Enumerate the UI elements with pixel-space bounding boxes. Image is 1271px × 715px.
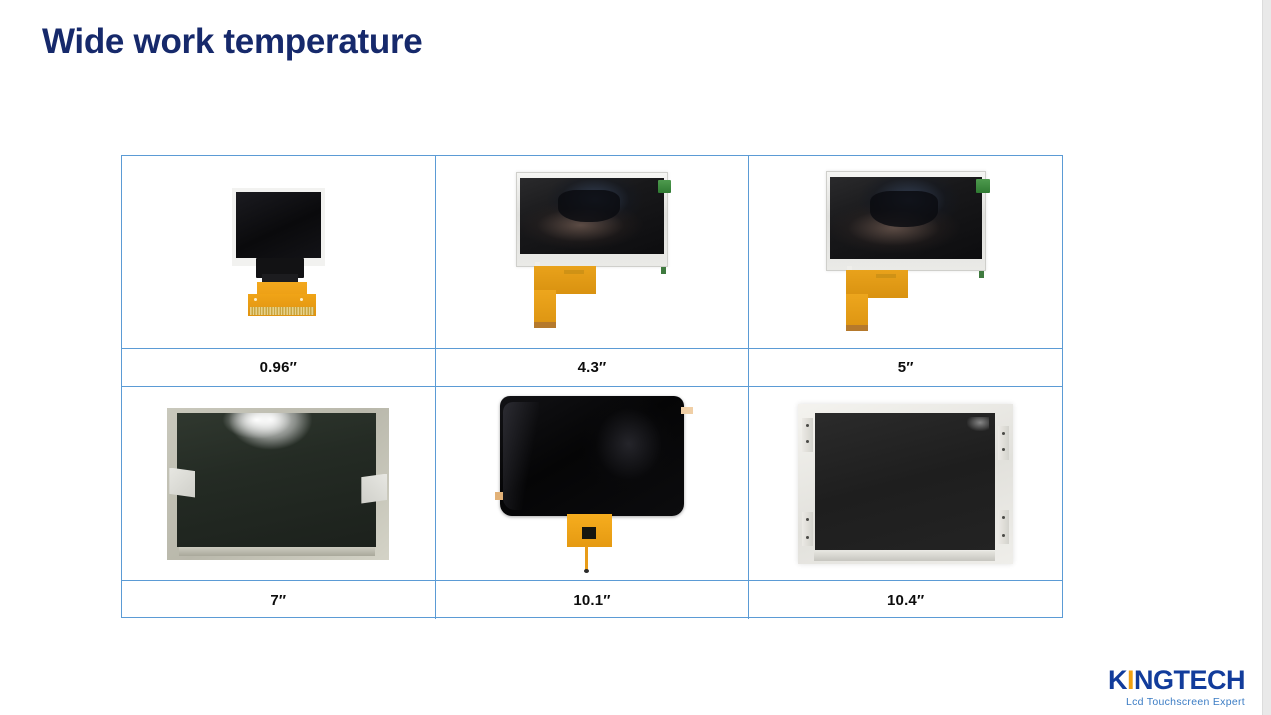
table-row-images-2 (122, 387, 1062, 581)
module-fpc-leg (534, 290, 556, 325)
module-fpc-green-mark (661, 267, 666, 274)
brand-logo-wordmark: KINGTECH (1108, 667, 1245, 694)
panel-screen (177, 413, 376, 547)
tft-lcd-panel-7-inch (167, 408, 389, 560)
panel-edge-reflection (503, 402, 539, 510)
mount-hole (806, 440, 809, 443)
panel-tape-right (361, 474, 387, 504)
product-image-tft-lcd-panel-10-1-inch (436, 387, 749, 580)
screen-glare (221, 413, 293, 448)
tft-lcd-panel-10-4-inch (798, 404, 1013, 564)
product-image-tft-lcd-panel-10-4-inch (749, 387, 1062, 580)
size-label: 4.3″ (436, 349, 749, 386)
table-cell-label-10-1: 10.1″ (436, 581, 750, 619)
mount-hole (1002, 432, 1005, 435)
panel-screen (815, 413, 995, 550)
module-screen (830, 177, 982, 259)
table-cell-label-10-4: 10.4″ (749, 581, 1062, 619)
table-cell-image-10-1[interactable] (436, 387, 750, 580)
module-fpc-pad (564, 270, 584, 274)
tft-lcd-module-5-inch (826, 171, 986, 333)
module-screen (236, 192, 321, 258)
module-fpc-pad (876, 274, 896, 278)
product-image-oled-module-0-96-inch (122, 156, 435, 348)
oled-module-0-96-inch (228, 188, 328, 316)
module-fpc-leg (846, 294, 868, 328)
table-cell-image-5[interactable] (749, 156, 1062, 348)
tft-lcd-module-4-3-inch (516, 172, 668, 332)
table-cell-label-0-96: 0.96″ (122, 349, 436, 386)
table-cell-label-5: 5″ (749, 349, 1062, 386)
page-title: Wide work temperature (42, 22, 422, 62)
panel-bottom-rail (179, 547, 375, 556)
size-label: 5″ (749, 349, 1062, 386)
mount-hole (1002, 516, 1005, 519)
table-cell-label-4-3: 4.3″ (436, 349, 750, 386)
mount-hole (806, 536, 809, 539)
size-label: 10.1″ (436, 581, 749, 619)
mount-hole (1002, 448, 1005, 451)
size-label: 0.96″ (122, 349, 435, 386)
panel-mount-ear-top-left (802, 418, 813, 452)
tft-lcd-panel-10-1-inch (500, 396, 684, 571)
module-fpc-green-mark (979, 271, 984, 278)
brand-logo: KINGTECH Lcd Touchscreen Expert (1108, 667, 1245, 708)
size-label: 7″ (122, 581, 435, 619)
panel-mount-ear-bottom-left (802, 512, 813, 546)
mount-hole (806, 424, 809, 427)
screen-corner-glare (967, 417, 989, 431)
panel-bottom-rail (814, 551, 995, 561)
product-image-tft-lcd-module-5-inch (749, 156, 1062, 348)
panel-nub-right (681, 407, 693, 414)
slide-right-edge-strip (1262, 0, 1271, 715)
table-cell-image-0-96[interactable] (122, 156, 436, 348)
brand-logo-word-after: NGTECH (1134, 665, 1245, 695)
module-green-tab (976, 179, 990, 193)
slide-canvas: Wide work temperature (0, 0, 1271, 715)
table-cell-label-7: 7″ (122, 581, 436, 619)
table-row-images-1 (122, 156, 1062, 349)
screen-reflection-blob (870, 191, 938, 227)
panel-nub-left (495, 492, 503, 500)
screen-reflection-blob (558, 190, 620, 222)
table-cell-image-10-4[interactable] (749, 387, 1062, 580)
module-screen (520, 178, 664, 254)
table-cell-image-7[interactable] (122, 387, 436, 580)
product-image-tft-lcd-panel-7-inch (122, 387, 435, 580)
module-fpc-connector-tip (534, 322, 556, 328)
panel-mount-ear-top-right (998, 426, 1009, 460)
panel-fpc-tail (585, 546, 588, 571)
product-image-tft-lcd-module-4-3-inch (436, 156, 749, 348)
brand-logo-word-before: K (1108, 665, 1127, 695)
mount-hole (1002, 534, 1005, 537)
panel-tape-left (169, 468, 195, 498)
module-fpc-gold-fingers (250, 307, 314, 315)
module-green-tab (658, 180, 671, 193)
table-row-labels-2: 7″ 10.1″ 10.4″ (122, 581, 1062, 619)
size-label: 10.4″ (749, 581, 1062, 619)
panel-fpc-chip (582, 527, 596, 539)
panel-mount-ear-bottom-right (998, 510, 1009, 544)
product-size-table: 0.96″ 4.3″ 5″ (121, 155, 1063, 618)
table-row-labels-1: 0.96″ 4.3″ 5″ (122, 349, 1062, 387)
panel-fpc-tail-end (584, 569, 589, 573)
table-cell-image-4-3[interactable] (436, 156, 750, 348)
mount-hole (806, 518, 809, 521)
brand-logo-accent-letter: I (1127, 665, 1134, 695)
module-fpc-connector-tip (846, 325, 868, 331)
brand-logo-tagline: Lcd Touchscreen Expert (1108, 697, 1245, 708)
